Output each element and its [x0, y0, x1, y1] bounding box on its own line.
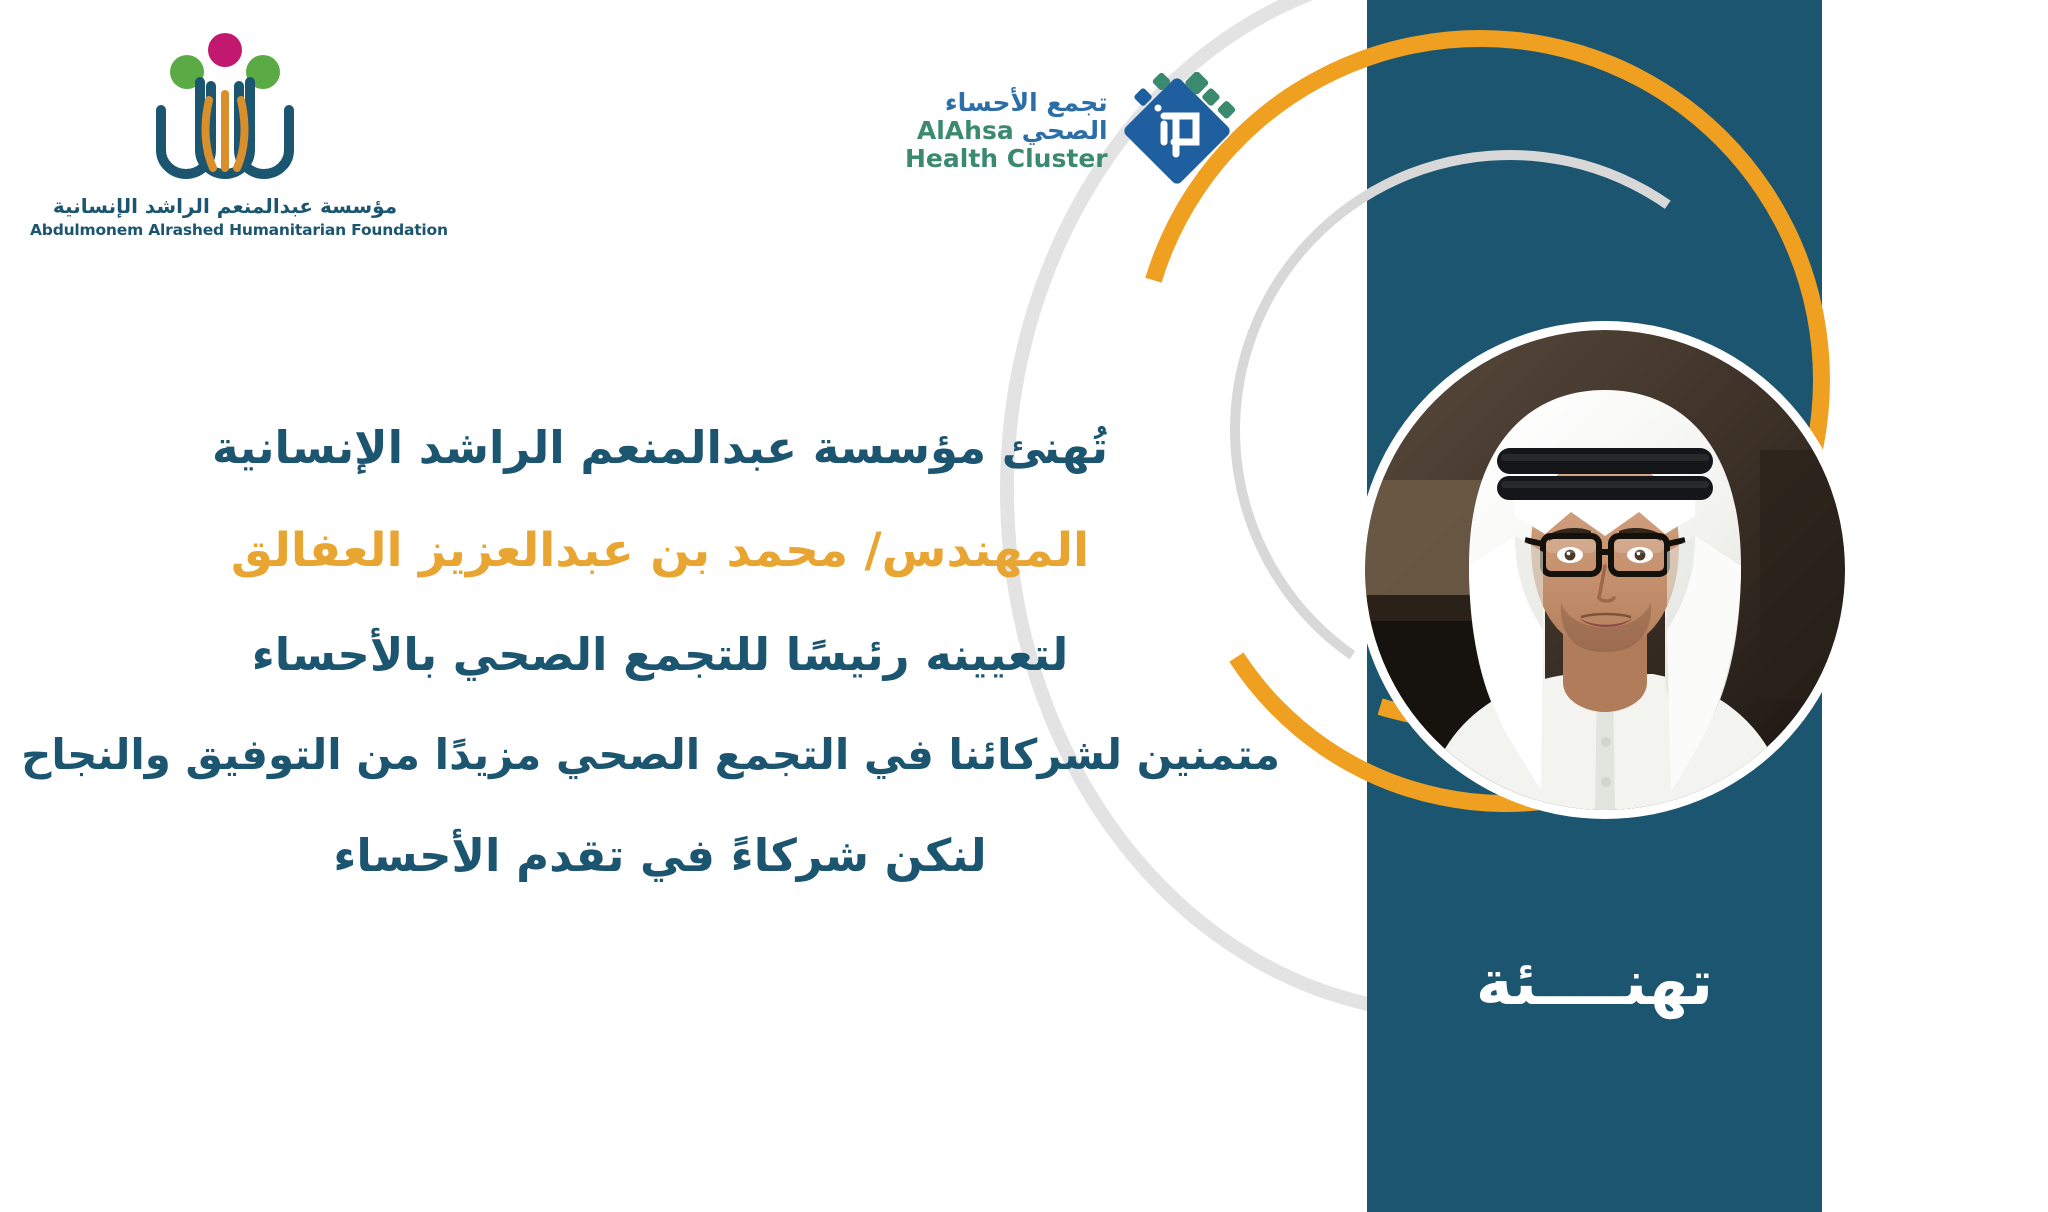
- message-block: تُهنئ مؤسسة عبدالمنعم الراشد الإنسانية ا…: [40, 420, 1280, 884]
- message-line-2-honoree-name: المهندس/ محمد بن عبدالعزيز العفالق: [40, 522, 1280, 581]
- cluster-logo-text: تجمع الأحساء AlAhsa الصحي Health Cluster: [905, 89, 1108, 173]
- avatar: [1365, 330, 1845, 810]
- message-line-4: متمنين لشركائنا في التجمع الصحي مزيدًا م…: [40, 729, 1280, 782]
- cluster-name-ar-line2: الصحي: [1022, 117, 1108, 145]
- panel-title: تهنــــئة: [1367, 952, 1822, 1014]
- poster-canvas: تهنــــئة مؤسسة عبدالمنعم الراشد الإنسان…: [0, 0, 2048, 1212]
- alahsa-health-cluster-diamond-icon: [1118, 72, 1236, 190]
- three-people-logo-mark: [125, 28, 325, 188]
- cluster-name-en-line1: AlAhsa: [917, 117, 1014, 145]
- cluster-name-ar-line1: تجمع الأحساء: [905, 89, 1108, 117]
- foundation-logo: مؤسسة عبدالمنعم الراشد الإنسانية Abdulmo…: [30, 28, 420, 239]
- foundation-name-en: Abdulmonem Alrashed Humanitarian Foundat…: [30, 221, 420, 239]
- message-line-1: تُهنئ مؤسسة عبدالمنعم الراشد الإنسانية: [40, 420, 1280, 476]
- message-line-5: لنكن شركاءً في تقدم الأحساء: [40, 828, 1280, 884]
- portrait-image: [1365, 330, 1845, 810]
- cluster-logo: تجمع الأحساء AlAhsa الصحي Health Cluster: [905, 72, 1236, 190]
- logo-dot-center: [208, 33, 242, 67]
- message-line-3: لتعيينه رئيسًا للتجمع الصحي بالأحساء: [40, 627, 1280, 683]
- cluster-name-en-line2: Health Cluster: [905, 145, 1108, 173]
- foundation-name-ar: مؤسسة عبدالمنعم الراشد الإنسانية: [30, 194, 420, 218]
